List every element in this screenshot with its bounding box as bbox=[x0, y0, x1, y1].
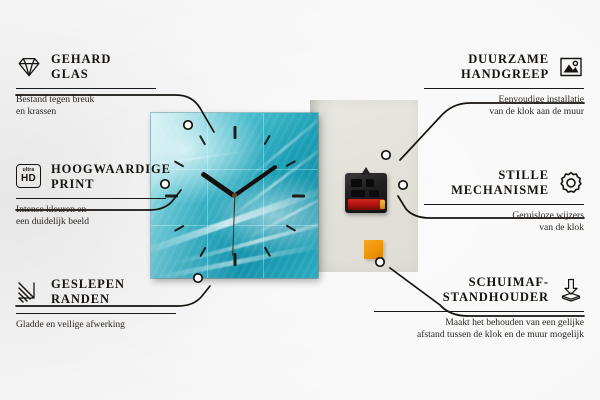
glass-reflection-line bbox=[263, 113, 264, 278]
feature-divider bbox=[16, 313, 176, 314]
feature-divider bbox=[16, 198, 166, 199]
feature-header: STILLE MECHANISME bbox=[424, 168, 584, 199]
feature-header: GESLEPEN RANDEN bbox=[16, 277, 176, 308]
feature-header: SCHUIMAF- STANDHOUDER bbox=[374, 275, 584, 306]
glass-reflection-line bbox=[151, 169, 318, 170]
foam-spacer bbox=[364, 240, 383, 259]
feature-geslepen-randen: GESLEPEN RANDEN Gladde en veilige afwerk… bbox=[16, 277, 176, 331]
gear-icon bbox=[558, 170, 584, 196]
feature-description: Maakt het behouden van een gelijke afsta… bbox=[374, 317, 584, 342]
feature-description: Intense kleuren en een duidelijk beeld bbox=[16, 204, 166, 229]
clock-tick bbox=[233, 126, 236, 139]
feature-header: DUURZAME HANDGREEP bbox=[424, 52, 584, 83]
down-arrow-stand-icon bbox=[558, 277, 584, 303]
clock-tick bbox=[165, 194, 178, 197]
feature-gehard-glas: GEHARD GLAS Bestand tegen breuk en krass… bbox=[16, 52, 156, 119]
clock-tick bbox=[292, 194, 305, 197]
feature-header: GEHARD GLAS bbox=[16, 52, 156, 83]
clock-mechanism bbox=[345, 173, 387, 213]
feature-description: Gladde en veilige afwerking bbox=[16, 319, 176, 332]
ultra-hd-icon: ultra HD bbox=[16, 164, 42, 190]
battery bbox=[348, 199, 384, 210]
feature-header: ultra HD HOOGWAARDIGE PRINT bbox=[16, 162, 166, 193]
feature-title: DUURZAME HANDGREEP bbox=[461, 52, 549, 83]
feature-hoogwaardige-print: ultra HD HOOGWAARDIGE PRINT Intense kleu… bbox=[16, 162, 166, 229]
feature-schuimaf-standhouder: SCHUIMAF- STANDHOUDER Maakt het behouden… bbox=[374, 275, 584, 342]
bevelled-edges-icon bbox=[16, 279, 42, 305]
feature-divider bbox=[424, 204, 584, 205]
feature-description: Eenvoudige installatie van de klok aan d… bbox=[424, 94, 584, 119]
infographic-canvas: GEHARD GLAS Bestand tegen breuk en krass… bbox=[0, 0, 600, 400]
feature-divider bbox=[424, 88, 584, 89]
ultra-hd-icon-main-label: HD bbox=[21, 174, 36, 184]
mechanism-slot bbox=[366, 179, 374, 187]
mechanism-slot bbox=[369, 190, 379, 197]
picture-frame-icon bbox=[558, 54, 584, 80]
wall-clock bbox=[151, 113, 318, 278]
feature-stille-mechanisme: STILLE MECHANISME Geruisloze wijzers van… bbox=[424, 168, 584, 235]
feature-description: Geruisloze wijzers van de klok bbox=[424, 210, 584, 235]
clock-tick bbox=[233, 253, 236, 266]
feature-duurzame-handgreep: DUURZAME HANDGREEP Eenvoudige installati… bbox=[424, 52, 584, 119]
feature-divider bbox=[16, 88, 156, 89]
diamond-icon bbox=[16, 54, 42, 80]
mechanism-slot bbox=[351, 179, 362, 187]
mechanism-slot bbox=[351, 190, 365, 197]
feature-title: HOOGWAARDIGE PRINT bbox=[51, 162, 171, 193]
feature-title: GESLEPEN RANDEN bbox=[51, 277, 125, 308]
feature-divider bbox=[374, 311, 584, 312]
clock-center-cap bbox=[232, 193, 237, 198]
feature-description: Bestand tegen breuk en krassen bbox=[16, 94, 156, 119]
glass-reflection-line bbox=[207, 113, 208, 278]
feature-title: SCHUIMAF- STANDHOUDER bbox=[443, 275, 549, 306]
feature-title: GEHARD GLAS bbox=[51, 52, 111, 83]
glass-reflection-line bbox=[151, 225, 318, 226]
feature-title: STILLE MECHANISME bbox=[451, 168, 549, 199]
